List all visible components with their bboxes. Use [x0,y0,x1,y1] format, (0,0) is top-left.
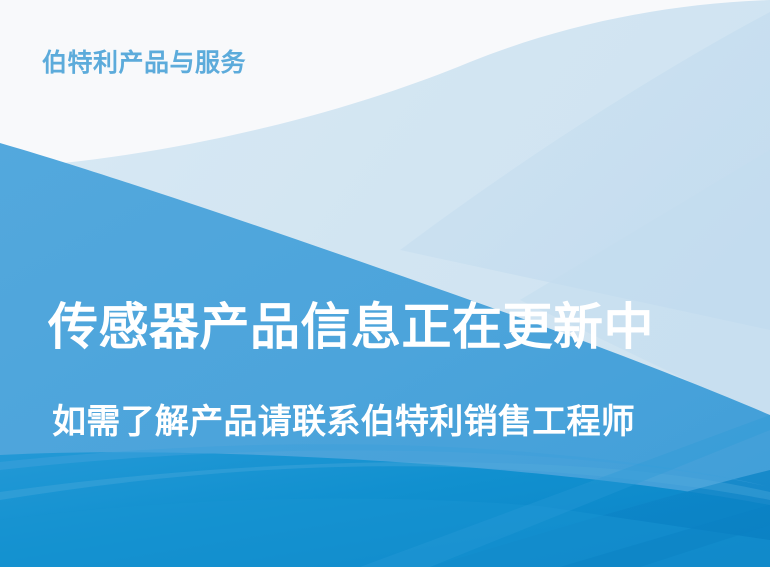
banner-subheadline: 如需了解产品请联系伯特利销售工程师 [52,405,635,441]
banner-headline: 传感器产品信息正在更新中 [48,301,654,354]
banner-placeholder-card: 伯特利产品与服务 传感器产品信息正在更新中 如需了解产品请联系伯特利销售工程师 [0,0,770,567]
banner-text-layer: 伯特利产品与服务 传感器产品信息正在更新中 如需了解产品请联系伯特利销售工程师 [0,0,770,567]
brand-eyebrow-label: 伯特利产品与服务 [42,49,246,77]
